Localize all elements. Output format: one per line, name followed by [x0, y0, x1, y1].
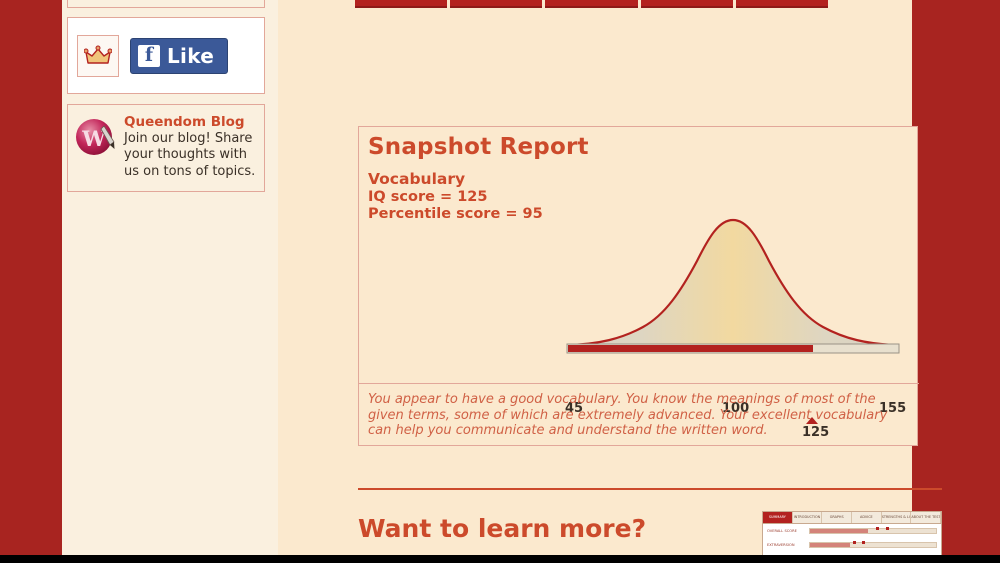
nav-tab-4[interactable]: [641, 0, 733, 8]
thumbnail-row-label: OVERALL SCORE: [767, 529, 805, 533]
thumbnail-tab-3: GRAPHS: [822, 512, 852, 523]
thumbnail-bar-fill: [810, 543, 850, 547]
snapshot-report-card: Snapshot Report Vocabulary IQ score = 12…: [358, 126, 918, 446]
facebook-f-icon: f: [138, 45, 160, 67]
crown-icon-glyph: [84, 45, 112, 67]
section-divider: [358, 488, 942, 490]
main-content: Snapshot Report Vocabulary IQ score = 12…: [278, 0, 912, 555]
nav-tab-1[interactable]: [355, 0, 447, 8]
thumbnail-bar-fill: [810, 529, 868, 533]
thumbnail-score-bar: [809, 528, 937, 534]
nav-tab-2[interactable]: [450, 0, 542, 8]
blog-text-block: Queendom Blog Join our blog! Share your …: [124, 114, 258, 191]
thumbnail-tab-row: SUMMARY INTRODUCTION GRAPHS ADVICE STREN…: [763, 512, 941, 524]
thumbnail-tab-5: STRENGTHS & LIMITATIONS: [882, 512, 912, 523]
content-column: f Like W: [62, 0, 912, 555]
page-frame: f Like W: [0, 0, 1000, 555]
thumbnail-score-row: OVERALL SCORE: [763, 524, 941, 538]
bottom-letterbox-bar: [0, 555, 1000, 563]
report-title: Snapshot Report: [368, 134, 589, 160]
thumbnail-bar-dot: [886, 527, 889, 530]
bell-curve-svg: [559, 187, 907, 387]
sidebar: f Like W: [62, 0, 277, 555]
thumbnail-tab-4: ADVICE: [852, 512, 882, 523]
nav-tab-strip: [278, 0, 912, 8]
thumbnail-tab-1: SUMMARY: [763, 512, 793, 523]
sidebar-widget-partial: [67, 0, 265, 8]
report-subtitle: Vocabulary: [368, 170, 465, 188]
thumbnail-tab-6: ABOUT THE TEST: [911, 512, 941, 523]
thumbnail-row-label: EXTRAVERSION: [767, 543, 805, 547]
sidebar-blog-widget[interactable]: W Queendom Blog Join our blog! Share you…: [67, 104, 265, 192]
thumbnail-score-bar: [809, 542, 937, 548]
bell-curve-area: [569, 220, 897, 345]
bell-curve-chart: 45 100 155 125: [559, 187, 907, 387]
learn-more-title: Want to learn more?: [358, 514, 646, 543]
crown-icon[interactable]: [77, 35, 119, 77]
thumbnail-bar-dot: [876, 527, 879, 530]
facebook-like-label: Like: [167, 44, 214, 68]
interpretation-text: You appear to have a good vocabulary. Yo…: [368, 392, 905, 439]
blog-body-text: Join our blog! Share your thoughts with …: [124, 131, 258, 181]
thumbnail-bar-dot: [862, 541, 865, 544]
facebook-like-button[interactable]: f Like: [130, 38, 228, 74]
percentile-score-line: Percentile score = 95: [368, 206, 543, 223]
blog-title-link[interactable]: Queendom Blog: [124, 114, 258, 131]
score-lines: IQ score = 125 Percentile score = 95: [368, 189, 543, 223]
axis-bar-fill: [568, 345, 813, 352]
sample-report-thumbnail[interactable]: SUMMARY INTRODUCTION GRAPHS ADVICE STREN…: [762, 511, 942, 555]
nav-tab-3[interactable]: [545, 0, 637, 8]
sidebar-facebook-widget: f Like: [67, 17, 265, 94]
wordpress-icon: W: [74, 116, 118, 160]
thumbnail-bar-dot: [853, 541, 856, 544]
interpretation-section: You appear to have a good vocabulary. Yo…: [359, 383, 919, 439]
thumbnail-score-row: EXTRAVERSION: [763, 538, 941, 552]
iq-score-line: IQ score = 125: [368, 189, 543, 206]
thumbnail-tab-2: INTRODUCTION: [793, 512, 823, 523]
nav-tab-5[interactable]: [736, 0, 828, 8]
